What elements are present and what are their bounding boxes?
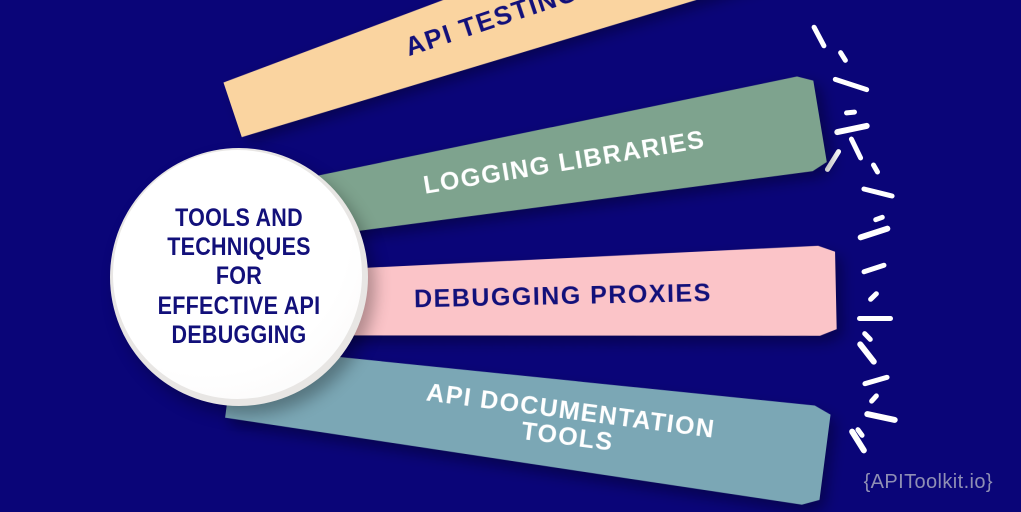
sparkle-ray xyxy=(856,340,878,366)
sparkle-ray xyxy=(864,411,899,424)
sparkle-ray xyxy=(837,49,849,64)
sparkle-ray xyxy=(861,186,895,199)
sparkle-ray xyxy=(870,162,881,176)
sparkle-cluster-2 xyxy=(833,140,938,255)
sparkle-ray xyxy=(844,109,857,115)
brand-watermark: {APIToolkit.io} xyxy=(864,471,993,494)
sparkle-ray xyxy=(867,290,880,303)
sparkle-cluster-4 xyxy=(830,372,950,467)
sparkle-ray xyxy=(857,316,893,321)
sparkle-ray xyxy=(832,76,870,92)
sparkle-cluster-3 xyxy=(845,258,955,373)
infographic-canvas: API TESTING TOOLS LOGGING LIBRARIES DEBU… xyxy=(0,0,1021,512)
sparkle-ray xyxy=(848,136,864,162)
sparkle-ray xyxy=(834,122,870,135)
sparkle-ray xyxy=(811,24,828,49)
sparkle-ray xyxy=(868,392,880,404)
sparkle-ray xyxy=(861,330,874,343)
center-circle: TOOLS AND TECHNIQUES FOR EFFECTIVE API D… xyxy=(110,148,368,406)
sparkle-ray xyxy=(862,374,890,387)
sparkle-ray xyxy=(861,262,887,275)
sparkle-ray xyxy=(857,225,891,241)
sparkle-ray xyxy=(873,214,886,223)
page-title: TOOLS AND TECHNIQUES FOR EFFECTIVE API D… xyxy=(128,148,350,406)
